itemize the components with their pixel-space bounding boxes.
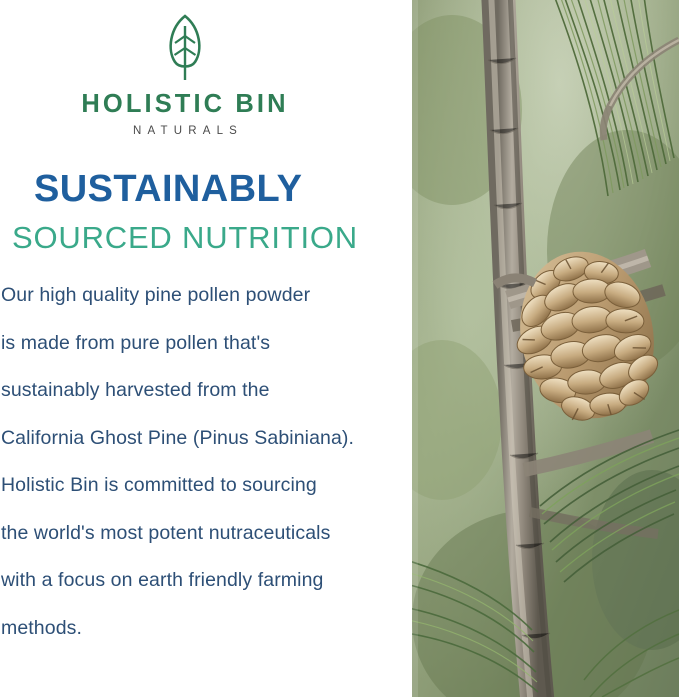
body-line: with a focus on earth friendly farming [1, 557, 411, 605]
body-line: methods. [1, 605, 411, 653]
body-line: Holistic Bin is committed to sourcing [1, 462, 411, 510]
headline-primary: SUSTAINABLY [34, 170, 302, 210]
headline-secondary: SOURCED NUTRITION [12, 222, 358, 255]
product-info-banner: HOLISTIC BIN NATURALS SUSTAINABLY SOURCE… [0, 0, 679, 697]
pine-tree-leaf-icon [157, 12, 213, 84]
brand-tagline: NATURALS [0, 125, 370, 137]
body-line: sustainably harvested from the [1, 367, 411, 415]
body-line: is made from pure pollen that's [1, 320, 411, 368]
pine-cone-photo [412, 0, 679, 697]
text-panel: HOLISTIC BIN NATURALS SUSTAINABLY SOURCE… [0, 0, 412, 697]
brand-name: HOLISTIC BIN [0, 90, 370, 118]
body-line: the world's most potent nutraceuticals [1, 510, 411, 558]
pine-cone-photo-illustration [412, 0, 679, 697]
body-line: Our high quality pine pollen powder [1, 272, 411, 320]
body-copy: Our high quality pine pollen powder is m… [1, 272, 411, 652]
body-line: California Ghost Pine (Pinus Sabiniana). [1, 415, 411, 463]
brand-logo: HOLISTIC BIN NATURALS [0, 12, 370, 137]
